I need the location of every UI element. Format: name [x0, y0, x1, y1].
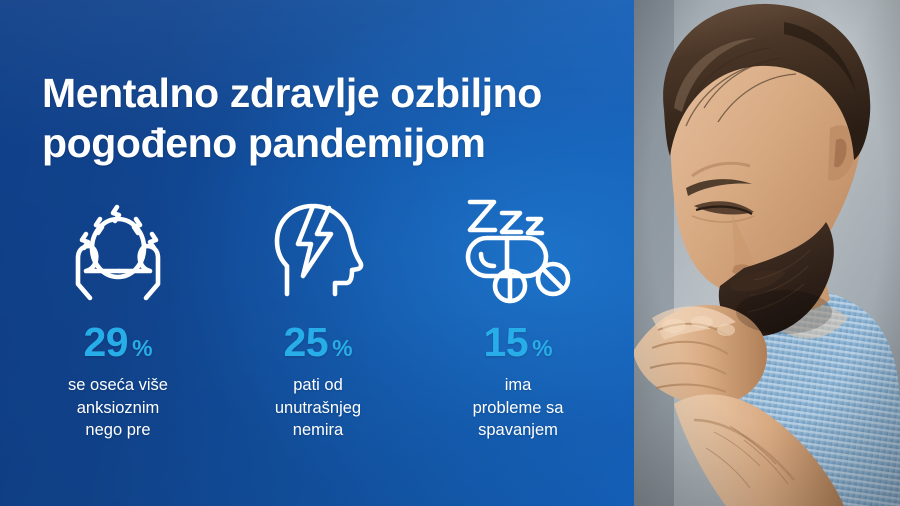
page-title-line-2: pogođeno pandemijom	[42, 118, 617, 168]
caption-line-1: ima	[505, 376, 532, 394]
stat-caption-anxiety: se oseća više anksioznim nego pre	[68, 374, 168, 442]
stat-number: 25	[283, 322, 328, 363]
head-lightning-icon	[259, 192, 377, 304]
stat-item-inner-unrest: 25 % pati od unutrašnjeg nemira	[218, 192, 418, 442]
page-title-line-1: Mentalno zdravlje ozbiljno	[42, 68, 617, 118]
stat-item-sleep: 15 % ima probleme sa spavanjem	[418, 192, 618, 442]
blue-content-panel: Mentalno zdravlje ozbiljno pogođeno pand…	[0, 0, 634, 506]
page-title: Mentalno zdravlje ozbiljno pogođeno pand…	[42, 68, 617, 168]
caption-line-2: anksioznim	[77, 399, 160, 417]
caption-line-3: spavanjem	[478, 421, 558, 439]
percent-sign: %	[532, 337, 552, 360]
caption-line-3: nemira	[293, 421, 343, 439]
caption-line-2: probleme sa	[473, 399, 564, 417]
stat-item-anxiety: 29 % se oseća više anksioznim nego pre	[18, 192, 218, 442]
stat-value-sleep: 15 %	[483, 322, 552, 363]
percent-sign: %	[332, 337, 352, 360]
statistics-row: 29 % se oseća više anksioznim nego pre	[18, 192, 618, 442]
caption-line-3: nego pre	[85, 421, 150, 439]
sleep-pills-icon	[454, 192, 582, 304]
caption-line-1: se oseća više	[68, 376, 168, 394]
stat-value-anxiety: 29 %	[83, 322, 152, 363]
stat-caption-inner-unrest: pati od unutrašnjeg nemira	[275, 374, 361, 442]
caption-line-1: pati od	[293, 376, 343, 394]
stat-number: 29	[83, 322, 128, 363]
percent-sign: %	[132, 337, 152, 360]
caption-line-2: unutrašnjeg	[275, 399, 361, 417]
stat-number: 15	[483, 322, 528, 363]
stat-value-inner-unrest: 25 %	[283, 322, 352, 363]
stressed-person-icon	[57, 192, 179, 304]
infographic-root: Mentalno zdravlje ozbiljno pogođeno pand…	[0, 0, 900, 506]
stat-caption-sleep: ima probleme sa spavanjem	[473, 374, 564, 442]
worried-man-photo	[634, 0, 900, 506]
